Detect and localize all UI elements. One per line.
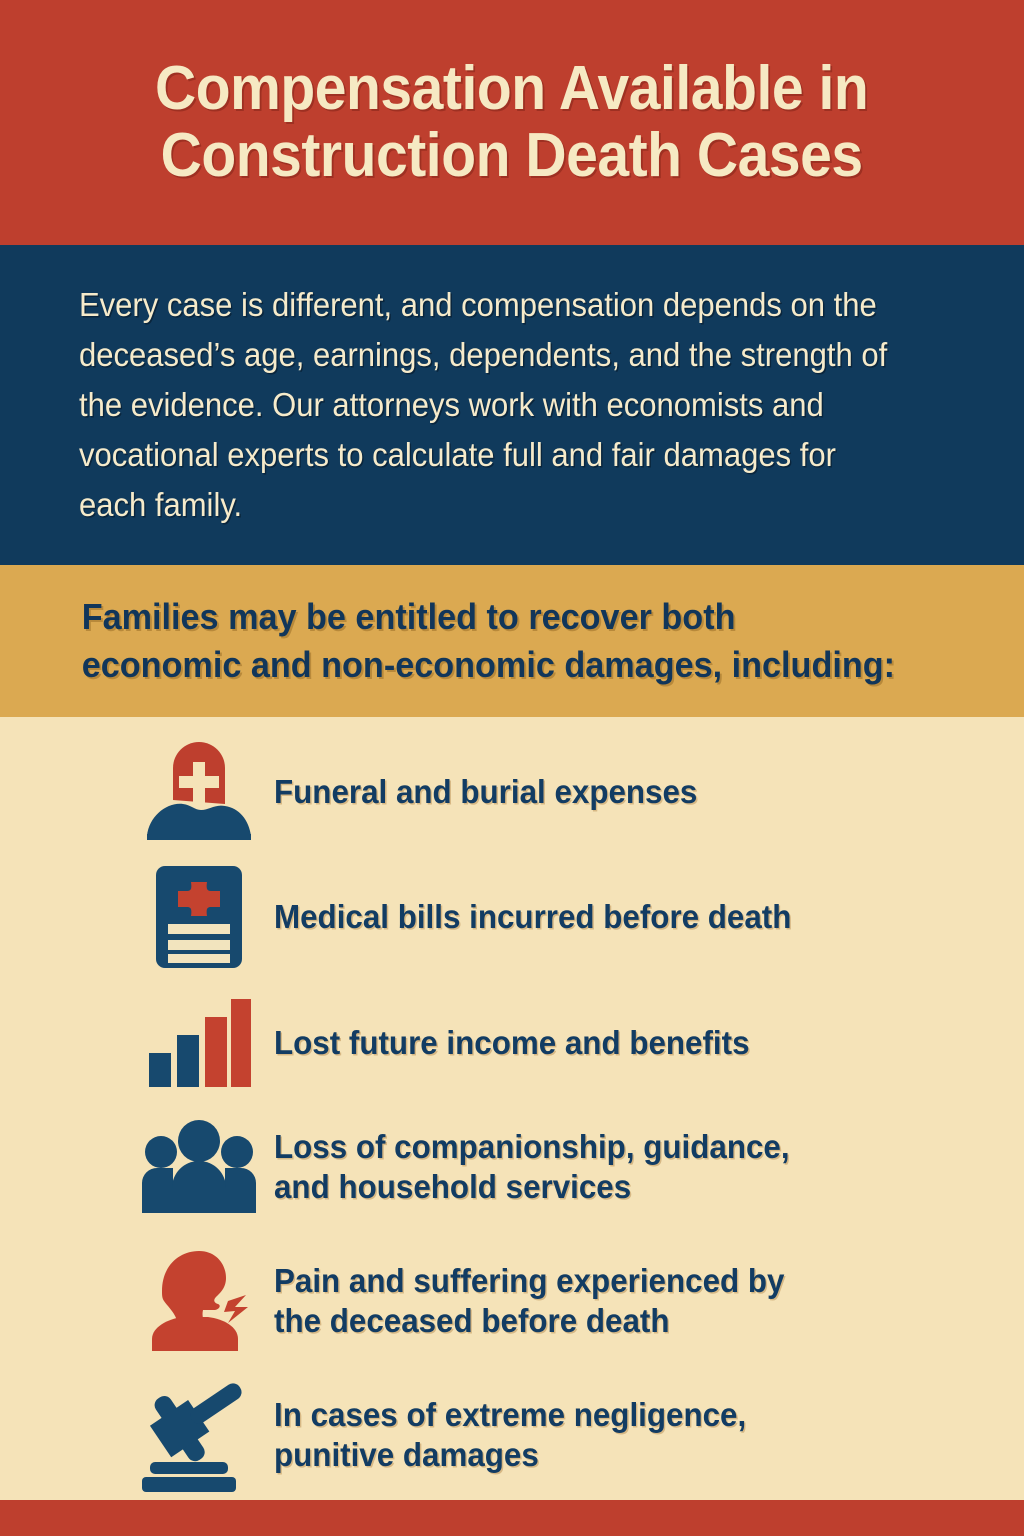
gravestone-icon (143, 742, 255, 842)
list-item-label: Lost future income and benefits (274, 1023, 750, 1063)
medical-document-icon (150, 862, 248, 972)
damages-list: Funeral and burial expenses Medical bill… (0, 717, 1024, 1500)
page-title: Compensation Available in Construction D… (100, 56, 924, 190)
header-banner: Compensation Available in Construction D… (0, 0, 1024, 245)
list-item: Loss of companionship, guidance, and hou… (0, 1103, 1024, 1231)
intro-section: Every case is different, and compensatio… (0, 245, 1024, 565)
intro-paragraph: Every case is different, and compensatio… (0, 280, 963, 531)
infographic-page: Compensation Available in Construction D… (0, 0, 1024, 1536)
list-item-label: Loss of companionship, guidance, and hou… (274, 1127, 790, 1208)
list-item: Funeral and burial expenses (0, 733, 1024, 851)
icon-container (124, 1247, 274, 1355)
icon-container (124, 1119, 274, 1215)
footer-bar (0, 1500, 1024, 1536)
damages-banner-heading: Families may be entitled to recover both… (0, 593, 933, 688)
list-item: Lost future income and benefits (0, 983, 1024, 1103)
damages-banner: Families may be entitled to recover both… (0, 565, 1024, 717)
icon-container (124, 862, 274, 972)
icon-container (124, 1378, 274, 1492)
list-item-label: Pain and suffering experienced by the de… (274, 1261, 784, 1342)
list-item-label: Medical bills incurred before death (274, 897, 791, 937)
gavel-icon (138, 1378, 260, 1492)
list-item-label: In cases of extreme negligence, punitive… (274, 1395, 746, 1476)
list-item: In cases of extreme negligence, punitive… (0, 1371, 1024, 1499)
list-item-label: Funeral and burial expenses (274, 772, 697, 812)
pain-head-icon (142, 1247, 256, 1355)
family-group-icon (140, 1119, 258, 1215)
icon-container (124, 995, 274, 1091)
list-item: Medical bills incurred before death (0, 851, 1024, 983)
icon-container (124, 742, 274, 842)
list-item: Pain and suffering experienced by the de… (0, 1231, 1024, 1371)
bar-chart-icon (145, 995, 253, 1091)
